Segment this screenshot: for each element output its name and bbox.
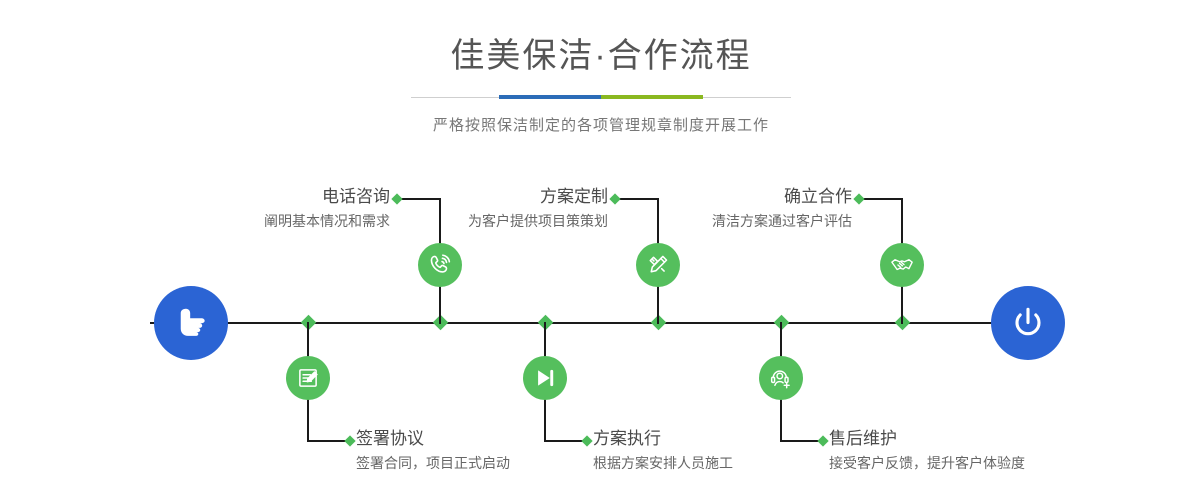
divider-segment-green xyxy=(601,95,703,99)
step-icon-3[interactable] xyxy=(636,243,680,287)
page-header: 佳美保洁·合作流程 严格按照保洁制定的各项管理规章制度开展工作 xyxy=(0,0,1202,135)
step-title-1: 电话咨询 xyxy=(230,186,390,208)
play-execute-icon xyxy=(532,365,558,391)
step-icon-4[interactable] xyxy=(523,356,567,400)
step-label-3: 方案定制 为客户提供项目策策划 xyxy=(448,186,608,232)
handshake-icon xyxy=(889,252,915,278)
step-label-1: 电话咨询 阐明基本情况和需求 xyxy=(230,186,390,232)
label-marker-3 xyxy=(609,193,620,204)
step-label-5: 确立合作 清洁方案通过客户评估 xyxy=(700,186,852,232)
step-title-5: 确立合作 xyxy=(700,186,852,208)
pencil-ruler-icon xyxy=(645,252,671,278)
flowchart-page: 佳美保洁·合作流程 严格按照保洁制定的各项管理规章制度开展工作 xyxy=(0,0,1202,502)
step-desc-4: 根据方案安排人员施工 xyxy=(593,452,733,474)
step-icon-6[interactable] xyxy=(759,356,803,400)
step-title-3: 方案定制 xyxy=(448,186,608,208)
step-desc-3: 为客户提供项目策策划 xyxy=(448,210,608,232)
step-desc-6: 接受客户反馈，提升客户体验度 xyxy=(829,452,1025,474)
phone-call-icon xyxy=(427,252,453,278)
step-label-4: 方案执行 根据方案安排人员施工 xyxy=(593,428,733,474)
step-desc-2: 签署合同，项目正式启动 xyxy=(356,452,510,474)
label-marker-6 xyxy=(817,435,828,446)
step-desc-1: 阐明基本情况和需求 xyxy=(230,210,390,232)
customer-service-add-icon xyxy=(768,365,794,391)
step-label-2: 签署协议 签署合同，项目正式启动 xyxy=(356,428,510,474)
connector-horizontal-1 xyxy=(398,198,441,200)
connector-horizontal-5 xyxy=(860,198,903,200)
step-icon-2[interactable] xyxy=(286,356,330,400)
document-edit-icon xyxy=(295,365,321,391)
label-marker-5 xyxy=(853,193,864,204)
label-marker-1 xyxy=(391,193,402,204)
timeline-axis xyxy=(150,322,1052,324)
timeline-end-node[interactable] xyxy=(991,286,1065,360)
divider-segment-blue xyxy=(499,95,601,99)
connector-horizontal-3 xyxy=(616,198,659,200)
step-desc-5: 清洁方案通过客户评估 xyxy=(700,210,852,232)
label-marker-2 xyxy=(344,435,355,446)
step-icon-5[interactable] xyxy=(880,243,924,287)
step-icon-1[interactable] xyxy=(418,243,462,287)
step-title-6: 售后维护 xyxy=(829,428,1025,450)
timeline-start-node[interactable] xyxy=(154,286,228,360)
power-icon xyxy=(1006,301,1050,345)
page-subtitle: 严格按照保洁制定的各项管理规章制度开展工作 xyxy=(0,114,1202,135)
step-label-6: 售后维护 接受客户反馈，提升客户体验度 xyxy=(829,428,1025,474)
step-title-4: 方案执行 xyxy=(593,428,733,450)
title-divider xyxy=(411,92,791,104)
step-title-2: 签署协议 xyxy=(356,428,510,450)
pointing-hand-icon xyxy=(169,301,213,345)
page-title: 佳美保洁·合作流程 xyxy=(0,32,1202,80)
label-marker-4 xyxy=(581,435,592,446)
